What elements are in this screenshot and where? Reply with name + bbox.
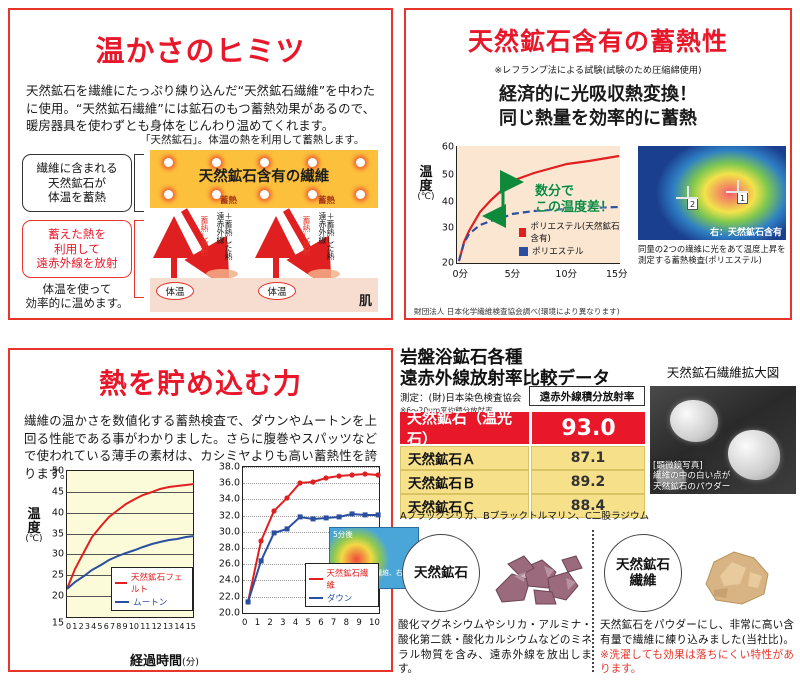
chartA-x-ticks: 01 23 45 67 89 1011 1213 1415 <box>66 622 196 631</box>
x-tick: 8 <box>116 622 121 631</box>
panel2-lead: 経済的に光吸収熱変換！ 同じ熱量を効率的に蓄熱 <box>406 83 790 132</box>
x-tick: 8 <box>344 618 349 628</box>
box2-caption: 天然鉱石をパウダーにし、非常に高い含有量で繊維に練り込みました(当社比)。※洗濯… <box>600 618 794 677</box>
table-column-header: 遠赤外線積分放射率 <box>529 386 645 406</box>
y-tick: 26.0 <box>219 559 240 570</box>
box2-circle-label: 天然鉱石 繊維 <box>604 534 682 612</box>
x-tick: 10 <box>129 622 139 631</box>
box1-caption: 酸化マグネシウムやシリカ・アルミナ・酸化第二鉄・酸化カルシウムなどのミネラル物質… <box>398 618 592 677</box>
brace-bottom <box>134 220 144 298</box>
panel2-title: 天然鉱石含有の蓄熱性 <box>406 22 790 58</box>
panel-warmth-secret: 温かさのヒミツ 天然鉱石を繊維にたっぷり練り込んだ“天然鉱石繊維”を中わたに使用… <box>8 8 393 320</box>
table-row: 天然鉱石Ａ 87.1 <box>400 446 645 470</box>
section-emissivity-data: 岩盤浴鉱石各種 遠赤外線放射率比較データ 測定：(財)日本染色検査協会 ※6〜2… <box>398 348 796 676</box>
chart-fiber-vs-down: 38.0 36.0 34.0 32.0 30.0 28.0 26.0 24.0 … <box>208 462 390 656</box>
info-box-natural-ore: 天然鉱石 酸化マグネシウムやシリカ・アルミナ・酸化第二鉄・酸化カルシウムなどのミ… <box>398 530 592 672</box>
fiber-band-label: 天然鉱石含有の繊維 <box>150 165 378 186</box>
y-tick: 25 <box>52 570 64 581</box>
y-tick: 28.0 <box>219 543 240 554</box>
legend-item: ポリエステル <box>519 245 620 257</box>
chartB-plot-area: 38.0 36.0 34.0 32.0 30.0 28.0 26.0 24.0 … <box>242 466 380 614</box>
annotation-line2: この温度差！ <box>535 200 613 216</box>
body-temp-badge: 体温 <box>156 282 194 300</box>
mineral-dot <box>164 190 173 199</box>
x-tick: 4 <box>293 618 298 628</box>
panel2-lead-line1: 経済的に光吸収熱変換！ <box>406 83 790 107</box>
legend-label: 天然鉱石フェルト <box>131 571 189 595</box>
panel2-source-note: 財団法人 日本化学繊維検査協会調べ(環境により異なります) <box>414 306 784 317</box>
x-tick: 12 <box>152 622 162 631</box>
table-cell-name: 天然鉱石Ａ <box>400 446 529 470</box>
table-cell-value: 89.2 <box>531 470 645 494</box>
arrow-label-emit: 蓄熱し放射 <box>200 216 208 256</box>
legend-line-blue-icon <box>309 597 323 600</box>
y-tick: 50 <box>442 170 454 181</box>
table-footnote: Aブラックシリカ、Bブラックトルマリン、C二股ラジウム <box>400 508 650 522</box>
y-tick: 36.0 <box>219 478 240 489</box>
box1-circle-label: 天然鉱石 <box>402 534 480 612</box>
table-row: 天然鉱石Ｂ 89.2 <box>400 470 645 494</box>
y-label-text: 温度 <box>27 507 40 536</box>
y-tick: 45 <box>52 486 64 497</box>
panel-heat-retention: 熱を貯め込む力 繊維の温かさを数値化する蓄熱検査で、ダウンやムートンを上回る性能… <box>8 348 393 672</box>
fiber-band: 天然鉱石含有の繊維 蓄熱 蓄熱 <box>150 150 378 208</box>
y-tick: 30 <box>52 549 64 560</box>
y-tick: 24.0 <box>219 575 240 586</box>
x-tick: 10 <box>369 618 380 628</box>
microscope-title: 天然鉱石繊維拡大図 <box>650 362 796 381</box>
fiber-blob <box>728 430 780 480</box>
chart-lamp-test: 温度 (℃) 20 30 40 50 60 0分 5分 10分 15分 <box>414 142 632 302</box>
table-cell-value: 87.1 <box>531 446 645 470</box>
thermal-image: 2 1 右：天然鉱石含有 <box>638 146 786 240</box>
chart-y-axis-label: 温度 (℃) <box>416 166 436 203</box>
y-label-unit: (℃) <box>416 193 436 202</box>
y-tick: 60 <box>442 142 454 153</box>
ore-photo <box>478 538 590 610</box>
x-tick: 15分 <box>606 266 628 280</box>
x-tick: 0 <box>242 618 247 628</box>
x-label-text: 経過時間 <box>130 654 182 669</box>
thermal-image-caption: 同量の2つの繊維に光をあて温度上昇を測定する蓄熱検査(ポリエステル) <box>638 244 788 266</box>
crosshair-icon: 2 <box>676 186 698 208</box>
legend-label: ポリエステル <box>532 245 584 257</box>
y-tick: 22.0 <box>219 591 240 602</box>
x-tick: 5 <box>97 622 102 631</box>
panel2-subtitle: ※レフランプ法による試験(試験のため圧縮綿使用) <box>406 62 790 76</box>
legend-label: 天然鉱石繊維 <box>327 567 375 591</box>
box2-caption-red: ※洗濯しても効果は落ちにくい特性があります。 <box>600 649 794 676</box>
x-tick: 7 <box>110 622 115 631</box>
chartB-legend: 天然鉱石繊維 ダウン <box>305 563 379 607</box>
x-tick: 5分 <box>505 266 521 280</box>
x-tick: 3 <box>280 618 285 628</box>
legend-item: ムートン <box>115 596 189 608</box>
legend-label: ダウン <box>327 592 352 604</box>
y-tick: 40 <box>442 197 454 208</box>
box2-caption-plain: 天然鉱石をパウダーにし、非常に高い含有量で繊維に練り込みました(当社比)。 <box>600 619 794 646</box>
x-tick: 2 <box>79 622 84 631</box>
y-label-unit: (℃) <box>24 535 44 544</box>
skin-label: 肌 <box>359 290 372 309</box>
table-cell-name: 天然鉱石（温光石） <box>400 412 529 444</box>
chart-legend: ポリエステル(天然鉱石含有) ポリエステル <box>519 219 620 257</box>
annotation-line1: 数分で <box>535 184 613 200</box>
y-tick: 38.0 <box>219 462 240 473</box>
x-tick: 14 <box>174 622 184 631</box>
microscope-caption: [顕微鏡写真] 繊維の中の白い点が 天然鉱石のパウダー <box>653 461 730 492</box>
y-tick: 15 <box>52 617 64 628</box>
mineral-dot <box>356 190 365 199</box>
legend-swatch-red-icon <box>519 228 526 237</box>
panel1-title: 温かさのヒミツ <box>10 28 391 70</box>
diagram-top-caption: 「天然鉱石」。体温の熱を利用して蓄熱します。 <box>140 132 380 147</box>
x-tick: 6 <box>104 622 109 631</box>
y-tick: 30.0 <box>219 526 240 537</box>
legend-line-red-icon <box>115 582 127 585</box>
mineral-dot <box>260 190 269 199</box>
chartB-x-ticks: 01 23 45 67 89 10 <box>242 618 380 628</box>
mineral-dot <box>308 190 317 199</box>
brace-top <box>134 154 144 212</box>
y-tick: 40 <box>52 507 64 518</box>
thermal-marker: 1 <box>737 191 748 204</box>
y-tick: 32.0 <box>219 510 240 521</box>
measurement-org: 測定：(財)日本染色検査協会 <box>400 390 530 404</box>
x-tick: 0 <box>66 622 71 631</box>
chartA-plot-area: 50 45 40 35 30 25 20 15 天然鉱石フェルト <box>66 470 194 618</box>
arrow-label-stored: ＋蓄熱した熱 遠赤外線 <box>318 212 334 260</box>
chart-felt-vs-mouton: 温度 (℃) 50 45 40 35 30 25 20 15 <box>24 466 204 656</box>
microscope-image: [顕微鏡写真] 繊維の中の白い点が 天然鉱石のパウダー <box>650 386 796 494</box>
x-label-unit: (分) <box>182 657 199 668</box>
y-tick: 35 <box>52 528 64 539</box>
callout1-label: 繊維に含まれる 天然鉱石が 体温を蓄熱 <box>36 161 117 204</box>
x-tick: 6 <box>318 618 323 628</box>
thermal-marker: 2 <box>687 197 698 210</box>
table-row: 天然鉱石（温光石） 93.0 <box>400 412 645 444</box>
y-tick: 34.0 <box>219 494 240 505</box>
x-tick: 3 <box>85 622 90 631</box>
table-cell-name: 天然鉱石Ｂ <box>400 470 529 494</box>
panel1-lead-text: 天然鉱石を繊維にたっぷり練り込んだ“天然鉱石繊維”を中わたに使用。“天然鉱石繊維… <box>26 82 375 135</box>
panel2-lead-line2: 同じ熱量を効率的に蓄熱 <box>406 107 790 131</box>
microscope-figure: 天然鉱石繊維拡大図 [顕微鏡写真] 繊維の中の白い点が 天然鉱石のパウダー <box>650 362 796 494</box>
body-temp-badge: 体温 <box>258 282 296 300</box>
x-tick: 7 <box>331 618 336 628</box>
legend-item: 天然鉱石繊維 <box>309 567 375 591</box>
legend-line-red-icon <box>309 578 323 581</box>
legend-item: ポリエステル(天然鉱石含有) <box>519 220 620 244</box>
callout-efficient-warming: 体温を使って 効率的に温めます。 <box>22 282 132 311</box>
panel3-title: 熱を貯め込む力 <box>10 362 391 402</box>
chartA-y-axis-label: 温度 (℃) <box>24 508 44 545</box>
legend-line-blue-icon <box>115 601 129 604</box>
dotted-divider <box>592 530 594 672</box>
x-tick: 5 <box>306 618 311 628</box>
callout2-label: 蓄えた熱を 利用して 遠赤外線を放射 <box>36 227 117 270</box>
legend-item: ダウン <box>309 592 375 604</box>
x-tick: 2 <box>267 618 272 628</box>
x-tick: 10分 <box>555 266 577 280</box>
x-tick: 9 <box>356 618 361 628</box>
y-tick: 30 <box>442 223 454 234</box>
legend-item: 天然鉱石フェルト <box>115 571 189 595</box>
thermal-image-label: 右：天然鉱石含有 <box>710 225 782 238</box>
legend-swatch-blue-icon <box>519 247 528 256</box>
x-tick: 11 <box>140 622 150 631</box>
y-tick: 50 <box>52 466 64 477</box>
chart-x-axis-label: 経過時間(分) <box>130 650 199 669</box>
table-cell-value: 93.0 <box>531 412 645 444</box>
arrow-label-emit: 蓄熱し放射 <box>302 216 310 256</box>
y-label-text: 温度 <box>419 165 432 194</box>
y-tick: 20 <box>52 591 64 602</box>
x-tick: 13 <box>163 622 173 631</box>
chart-annotation: 数分で この温度差！ <box>535 184 613 215</box>
chart-plot-area: 20 30 40 50 60 0分 5分 10分 15分 <box>456 146 620 264</box>
inset-top-label: 5分後 <box>333 529 353 540</box>
panel-heat-storage: 天然鉱石含有の蓄熱性 ※レフランプ法による試験(試験のため圧縮綿使用) 経済的に… <box>404 8 792 320</box>
fiber-clump-photo <box>680 538 792 610</box>
chartA-legend: 天然鉱石フェルト ムートン <box>111 567 193 611</box>
x-tick: 1 <box>72 622 77 631</box>
crosshair-icon: 1 <box>726 180 748 202</box>
legend-label: ムートン <box>133 596 167 608</box>
x-tick: 1 <box>255 618 260 628</box>
callout-fiber-stores-heat: 繊維に含まれる 天然鉱石が 体温を蓄熱 <box>22 154 132 212</box>
panel1-diagram: 「天然鉱石」。体温の熱を利用して蓄熱します。 繊維に含まれる 天然鉱石が 体温を… <box>20 132 382 312</box>
arrow-label-stored: ＋蓄熱した熱 遠赤外線 <box>216 212 232 260</box>
x-tick: 15 <box>186 622 196 631</box>
heat-arrows <box>150 204 378 282</box>
info-box-mineral-fiber: 天然鉱石 繊維 天然鉱石をパウダーにし、非常に高い含有量で繊維に練り込みました(… <box>600 530 794 672</box>
x-tick: 0分 <box>452 266 468 280</box>
x-tick: 4 <box>91 622 96 631</box>
infographic-page: 温かさのヒミツ 天然鉱石を繊維にたっぷり練り込んだ“天然鉱石繊維”を中わたに使用… <box>0 0 800 680</box>
fiber-blob <box>670 400 718 442</box>
callout-emits-far-infrared: 蓄えた熱を 利用して 遠赤外線を放射 <box>22 220 132 278</box>
y-tick: 20.0 <box>219 608 240 619</box>
legend-label: ポリエステル(天然鉱石含有) <box>530 220 620 244</box>
x-tick: 9 <box>123 622 128 631</box>
